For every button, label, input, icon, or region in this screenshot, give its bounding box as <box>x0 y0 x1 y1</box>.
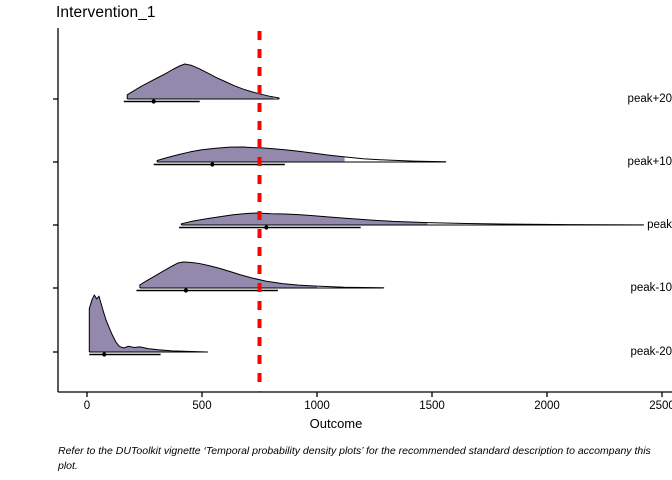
point-estimate-marker <box>210 162 214 166</box>
point-estimate-marker <box>184 288 188 292</box>
density-ridge-peak-20 <box>124 64 279 104</box>
y-tick-label-peak-20: peak-20 <box>620 346 672 358</box>
x-tick-label-2500: 2500 <box>649 400 672 412</box>
x-axis-ticks <box>87 392 662 397</box>
point-estimate-marker <box>102 352 106 356</box>
density-ridges <box>89 64 643 357</box>
plot-canvas <box>0 0 672 480</box>
density-fill <box>89 295 183 352</box>
caption-line-1: Refer to the DUToolkit vignette ‘Tempora… <box>58 445 563 457</box>
y-axis-ticks <box>53 99 58 352</box>
y-tick-label-peak: peak <box>620 219 672 231</box>
point-estimate-marker <box>152 99 156 103</box>
x-axis-title: Outcome <box>0 416 672 431</box>
x-tick-label-500: 500 <box>192 400 211 412</box>
temporal-probability-density-plot: Intervention_1 peak+20peak+10peakpeak-10… <box>0 0 672 480</box>
x-tick-label-1000: 1000 <box>304 400 330 412</box>
x-tick-label-0: 0 <box>84 400 90 412</box>
density-ridge-peak-10 <box>154 147 446 167</box>
x-tick-label-2000: 2000 <box>534 400 560 412</box>
x-tick-label-1500: 1500 <box>419 400 445 412</box>
point-estimate-marker <box>264 225 268 229</box>
plot-caption: Refer to the DUToolkit vignette ‘Tempora… <box>58 444 658 474</box>
y-tick-label-peak-10: peak+10 <box>620 156 672 168</box>
y-tick-label-peak-10: peak-10 <box>620 282 672 294</box>
density-ridge-peak <box>179 213 644 230</box>
y-tick-label-peak-20: peak+20 <box>620 93 672 105</box>
density-ridge-peak-20 <box>89 295 207 357</box>
density-fill <box>157 147 344 162</box>
